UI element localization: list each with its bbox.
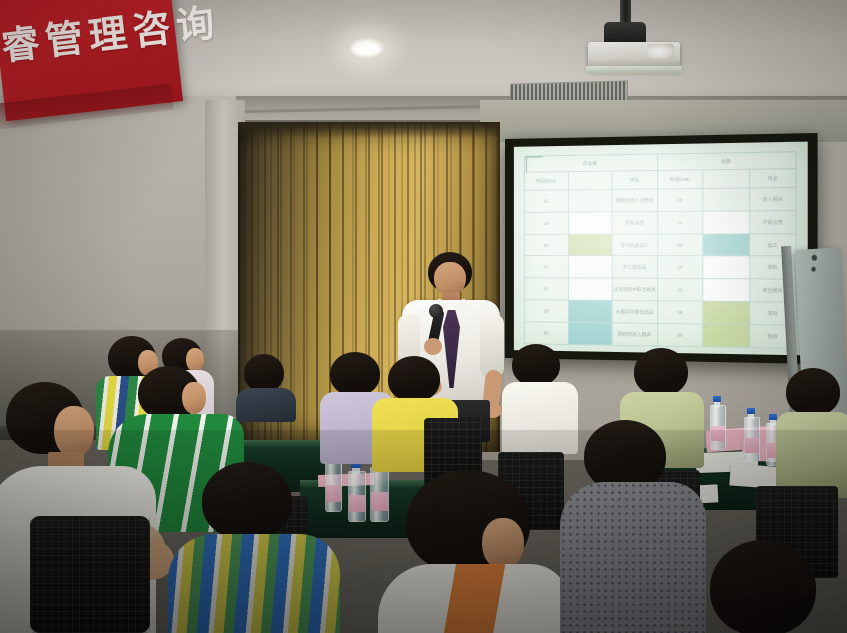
- curtain-header: [238, 122, 500, 138]
- attendee-back-small: [236, 354, 296, 414]
- slide-data-cell: 把模具放入注塑机: [612, 189, 657, 212]
- flipchart-clip-icon-2: [811, 267, 816, 272]
- slide-data-cell: 50: [657, 323, 703, 346]
- bottle-label: [349, 495, 365, 513]
- slide-group-header: 设备: [657, 152, 796, 171]
- slide-column-header: 时间(DM): [657, 170, 703, 189]
- slide-data-cell: 18: [657, 301, 703, 324]
- bottle-cap: [713, 396, 722, 402]
- bottle-body: [710, 405, 726, 450]
- slide-data-cell: 18: [524, 300, 568, 322]
- attendee-face: [182, 382, 206, 414]
- slide-data-cell: 16: [524, 190, 568, 212]
- slide-group-header: 作业者: [524, 154, 657, 173]
- slide-data-cell: 装入模具: [749, 187, 796, 210]
- chair-foreground: [30, 516, 150, 633]
- slide-data-cell: 开始注塑: [612, 211, 657, 234]
- attendee-face: [54, 406, 94, 458]
- water-bottle: [744, 408, 758, 460]
- slide-bar-cell: [703, 233, 749, 256]
- bottle-body: [348, 471, 366, 522]
- slide-data-cell: 50: [524, 322, 568, 345]
- slide-data-cell: 14: [657, 211, 703, 234]
- slide-data-cell: [568, 189, 612, 212]
- bottle-cap: [747, 408, 756, 414]
- slide-data-cell: 手工取出品: [612, 256, 657, 279]
- slide-bar-cell: [568, 234, 612, 256]
- attendee-hair: [202, 462, 292, 540]
- chair-mesh: [30, 516, 150, 633]
- slide-data-cell: 90: [657, 234, 703, 257]
- slide-data-cell: [703, 188, 749, 211]
- attendee-hair: [388, 356, 440, 402]
- slide-bar-cell: [703, 256, 749, 279]
- slide-column-header: 作业: [749, 169, 796, 188]
- attendee-shirt: [168, 534, 340, 633]
- flipchart-clip-icon: [812, 255, 818, 261]
- slide-column-header: 时间(DM): [524, 172, 568, 190]
- slide-data-cell: 12: [657, 279, 703, 302]
- slide-data-cell: 10: [524, 256, 568, 278]
- presenter-arm-right: [480, 314, 504, 378]
- bottle-label: [711, 426, 725, 441]
- attendee-face: [482, 518, 524, 570]
- bottle-label: [745, 438, 759, 453]
- slide-data-cell: 90: [524, 234, 568, 256]
- attendee-hair: [786, 368, 840, 416]
- projection-screen-surface: 作业者设备时间(DM)作业时间(DM)作业16把模具放入注塑机16装入模具14开…: [514, 142, 808, 356]
- slide-data-cell: 开始注塑: [749, 210, 796, 233]
- slide-bar-cell: [568, 278, 612, 300]
- attendee-shirt: [560, 482, 706, 633]
- attendee-far-right: [776, 368, 847, 494]
- bottle-body: [744, 417, 760, 462]
- water-bottle: [710, 396, 724, 448]
- attendee-hair: [244, 354, 284, 392]
- presenter-face: [434, 262, 466, 296]
- slide-bar-cell: [568, 322, 612, 345]
- slide-bar-cell: [703, 211, 749, 234]
- curtain-stripe: [306, 122, 308, 452]
- water-bottle: [348, 462, 364, 520]
- slide-bar-cell: [703, 301, 749, 324]
- slide-bar-cell: [568, 300, 612, 323]
- attendee-foreground-stripe: [168, 462, 340, 633]
- attendee-shirt: [378, 564, 570, 633]
- attendee-hair: [710, 540, 816, 633]
- slide-data-cell: 等待机器加工: [612, 234, 657, 256]
- slide-bar-cell: [568, 212, 612, 234]
- slide-column-header: [703, 170, 749, 189]
- slide-data-cell: 16: [657, 188, 703, 211]
- attendee-grey-dot-shirt: [560, 420, 706, 633]
- projector-base-plate: [586, 66, 682, 74]
- attendee-hair: [512, 344, 560, 386]
- slide-bar-cell: [568, 256, 612, 278]
- projection-screen-frame: 作业者设备时间(DM)作业时间(DM)作业16把模具放入注塑机16装入模具14开…: [505, 133, 818, 364]
- projector-lens: [648, 44, 674, 59]
- attendee-foreground-right: [688, 540, 838, 633]
- slide-data-cell: 10: [657, 256, 703, 279]
- slide-data-cell: 把材料装入模具: [612, 323, 657, 346]
- attendee-shirt: [236, 388, 296, 422]
- slide-data-cell: 从模具中取出成品: [612, 301, 657, 324]
- attendee-foreground-orange: [386, 470, 576, 633]
- seminar-photograph: 睿管理咨询 作业者设备时间(DM)作业时间(DM)作业16把模具放入注塑机16装…: [0, 0, 847, 633]
- slide-data-cell: 14: [524, 212, 568, 234]
- slide-column-header: [568, 171, 612, 189]
- presenter-hand-left: [424, 338, 442, 355]
- slide-column-header: 作业: [612, 171, 657, 189]
- slide-comparison-table: 作业者设备时间(DM)作业时间(DM)作业16把模具放入注塑机16装入模具14开…: [524, 151, 797, 349]
- microphone-head: [429, 304, 443, 318]
- attendee-hair: [634, 348, 688, 396]
- slide-bar-cell: [703, 279, 749, 302]
- slide-data-cell: 从注塑机中取出模具: [612, 278, 657, 301]
- downlight-core: [352, 42, 380, 55]
- curtain-stripe: [316, 122, 318, 452]
- slide-bar-cell: [703, 324, 749, 348]
- slide-data-cell: 12: [524, 278, 568, 300]
